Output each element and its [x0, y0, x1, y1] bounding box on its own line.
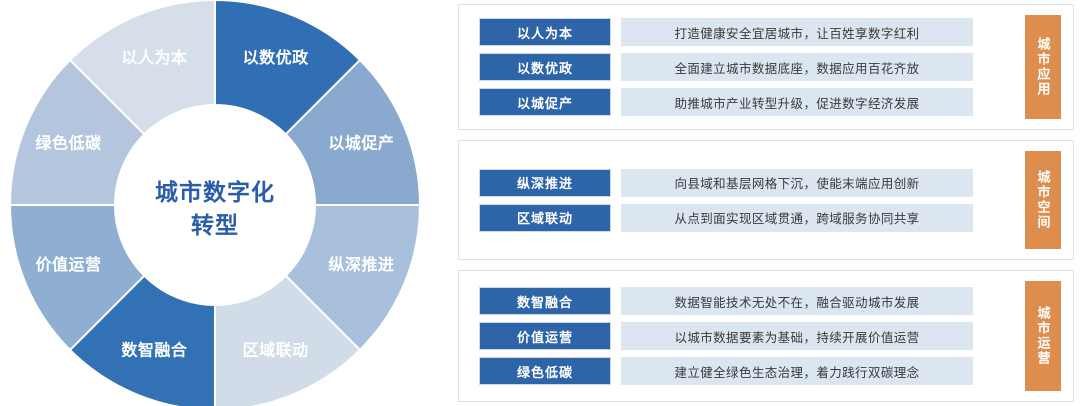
row-pill-label[interactable]: 以城促产 — [479, 88, 611, 116]
row-pill-label[interactable]: 数智融合 — [479, 287, 611, 315]
wheel-segment-label-7: 绿色低碳 — [36, 134, 103, 153]
panel-inner: 纵深推进向县域和基层网格下沉，使能末端应用创新区域联动从点到面实现区域贯通，跨域… — [459, 141, 1073, 259]
row-pill-label[interactable]: 区域联动 — [479, 204, 611, 232]
panel-2: 纵深推进向县域和基层网格下沉，使能末端应用创新区域联动从点到面实现区域贯通，跨域… — [458, 140, 1074, 260]
wheel-segment-label-1: 以数优政 — [243, 48, 310, 67]
panel-row: 以人为本打造健康安全宜居城市，让百姓享数字红利 — [479, 18, 973, 46]
row-pill-label[interactable]: 价值运营 — [479, 322, 611, 350]
panel-stack: 以人为本打造健康安全宜居城市，让百姓享数字红利以数优政全面建立城市数据底座，数据… — [458, 0, 1080, 406]
wheel-svg: 城市数字化 转型 以数优政以城促产纵深推进区域联动数智融合价值运营绿色低碳以人为… — [0, 0, 440, 406]
panel-rows: 数智融合数据智能技术无处不在，融合驱动城市发展价值运营以城市数据要素为基础，持续… — [479, 271, 973, 401]
panel-rows: 纵深推进向县域和基层网格下沉，使能末端应用创新区域联动从点到面实现区域贯通，跨域… — [479, 141, 973, 259]
infographic-root: 城市数字化 转型 以数优政以城促产纵深推进区域联动数智融合价值运营绿色低碳以人为… — [0, 0, 1080, 406]
wheel-segment-label-3: 纵深推进 — [328, 255, 394, 274]
row-description: 数据智能技术无处不在，融合驱动城市发展 — [621, 287, 973, 315]
row-description: 建立健全绿色生态治理，着力践行双碳理念 — [621, 357, 973, 385]
strategy-wheel: 城市数字化 转型 以数优政以城促产纵深推进区域联动数智融合价值运营绿色低碳以人为… — [0, 0, 440, 406]
wheel-center-disc — [115, 105, 315, 305]
panel-category-tab[interactable]: 城市应用 — [1025, 15, 1061, 119]
wheel-segment-label-2: 以城促产 — [328, 134, 394, 153]
panel-rows: 以人为本打造健康安全宜居城市，让百姓享数字红利以数优政全面建立城市数据底座，数据… — [479, 5, 973, 129]
row-description: 全面建立城市数据底座，数据应用百花齐放 — [621, 53, 973, 81]
row-description: 向县域和基层网格下沉，使能末端应用创新 — [621, 169, 973, 197]
panel-row: 以城促产助推城市产业转型升级，促进数字经济发展 — [479, 88, 973, 116]
row-description: 以城市数据要素为基础，持续开展价值运营 — [621, 322, 973, 350]
panel-inner: 以人为本打造健康安全宜居城市，让百姓享数字红利以数优政全面建立城市数据底座，数据… — [459, 5, 1073, 129]
panel-row: 纵深推进向县域和基层网格下沉，使能末端应用创新 — [479, 169, 973, 197]
wheel-segment-label-4: 区域联动 — [243, 341, 309, 360]
row-pill-label[interactable]: 以数优政 — [479, 53, 611, 81]
panel-category-tab[interactable]: 城市运营 — [1025, 281, 1061, 391]
panel-row: 区域联动从点到面实现区域贯通，跨域服务协同共享 — [479, 204, 973, 232]
wheel-center-title-line1: 城市数字化 — [155, 179, 275, 205]
row-pill-label[interactable]: 绿色低碳 — [479, 357, 611, 385]
panel-row: 绿色低碳建立健全绿色生态治理，着力践行双碳理念 — [479, 357, 973, 385]
panel-1: 以人为本打造健康安全宜居城市，让百姓享数字红利以数优政全面建立城市数据底座，数据… — [458, 4, 1074, 130]
panel-row: 以数优政全面建立城市数据底座，数据应用百花齐放 — [479, 53, 973, 81]
panel-row: 数智融合数据智能技术无处不在，融合驱动城市发展 — [479, 287, 973, 315]
wheel-segment-label-6: 价值运营 — [36, 255, 102, 274]
panel-inner: 数智融合数据智能技术无处不在，融合驱动城市发展价值运营以城市数据要素为基础，持续… — [459, 271, 1073, 401]
row-pill-label[interactable]: 以人为本 — [479, 18, 611, 46]
panel-3: 数智融合数据智能技术无处不在，融合驱动城市发展价值运营以城市数据要素为基础，持续… — [458, 270, 1074, 402]
wheel-segment-label-5: 数智融合 — [121, 341, 188, 360]
row-description: 打造健康安全宜居城市，让百姓享数字红利 — [621, 18, 973, 46]
row-pill-label[interactable]: 纵深推进 — [479, 169, 611, 197]
panel-row: 价值运营以城市数据要素为基础，持续开展价值运营 — [479, 322, 973, 350]
wheel-segment-label-8: 以人为本 — [121, 48, 187, 67]
row-description: 从点到面实现区域贯通，跨域服务协同共享 — [621, 204, 973, 232]
panel-category-tab[interactable]: 城市空间 — [1025, 151, 1061, 249]
row-description: 助推城市产业转型升级，促进数字经济发展 — [621, 88, 973, 116]
wheel-center-title-line2: 转型 — [191, 212, 239, 238]
